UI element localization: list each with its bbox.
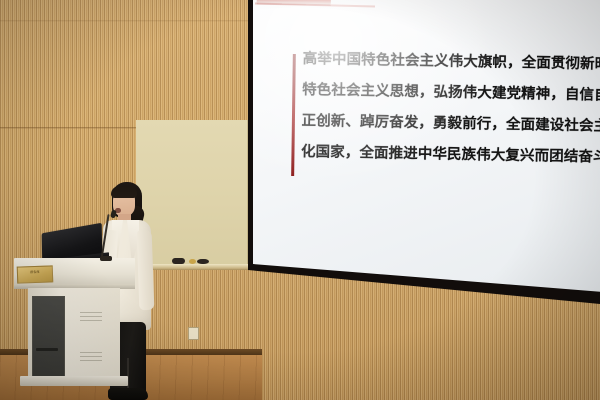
podium-equipment-panel bbox=[32, 296, 65, 380]
podium-vent-line bbox=[80, 320, 102, 321]
photo-scene: 高举中国特色社会主义伟大旗帜，全面贯彻新时代中国 特色社会主义思想，弘扬伟大建党… bbox=[0, 0, 600, 400]
slide-text-block: 高举中国特色社会主义伟大旗帜，全面贯彻新时代中国 特色社会主义思想，弘扬伟大建党… bbox=[301, 44, 600, 173]
slide-accent-bar bbox=[291, 54, 296, 176]
podium-slot bbox=[36, 348, 58, 351]
ledge-object-gold bbox=[189, 259, 196, 264]
podium-nameplate-label: 报告席 bbox=[18, 266, 52, 274]
slide-line-4: 化国家，全面推进中华民族伟大复兴而团结奋斗。 bbox=[301, 137, 600, 173]
wall-outlet bbox=[188, 327, 199, 340]
projection-screen: 高举中国特色社会主义伟大旗帜，全面贯彻新时代中国 特色社会主义思想，弘扬伟大建党… bbox=[244, 0, 600, 306]
podium-vent-line bbox=[80, 360, 102, 361]
podium-vent-line bbox=[80, 316, 102, 317]
slide-surface: 高举中国特色社会主义伟大旗帜，全面贯彻新时代中国 特色社会主义思想，弘扬伟大建党… bbox=[253, 0, 600, 298]
podium-base bbox=[20, 376, 128, 386]
podium-nameplate: 报告席 bbox=[17, 265, 54, 283]
podium-vent-line bbox=[80, 312, 102, 313]
blazer-sleeve-right bbox=[137, 230, 155, 310]
podium-vent-line bbox=[80, 356, 102, 357]
ledge-object-round bbox=[197, 259, 209, 264]
hair-fringe bbox=[111, 186, 137, 198]
shoes bbox=[108, 388, 148, 400]
slide-header-rule bbox=[255, 3, 375, 8]
microphone-base bbox=[100, 256, 112, 261]
podium-vent-line bbox=[80, 352, 102, 353]
